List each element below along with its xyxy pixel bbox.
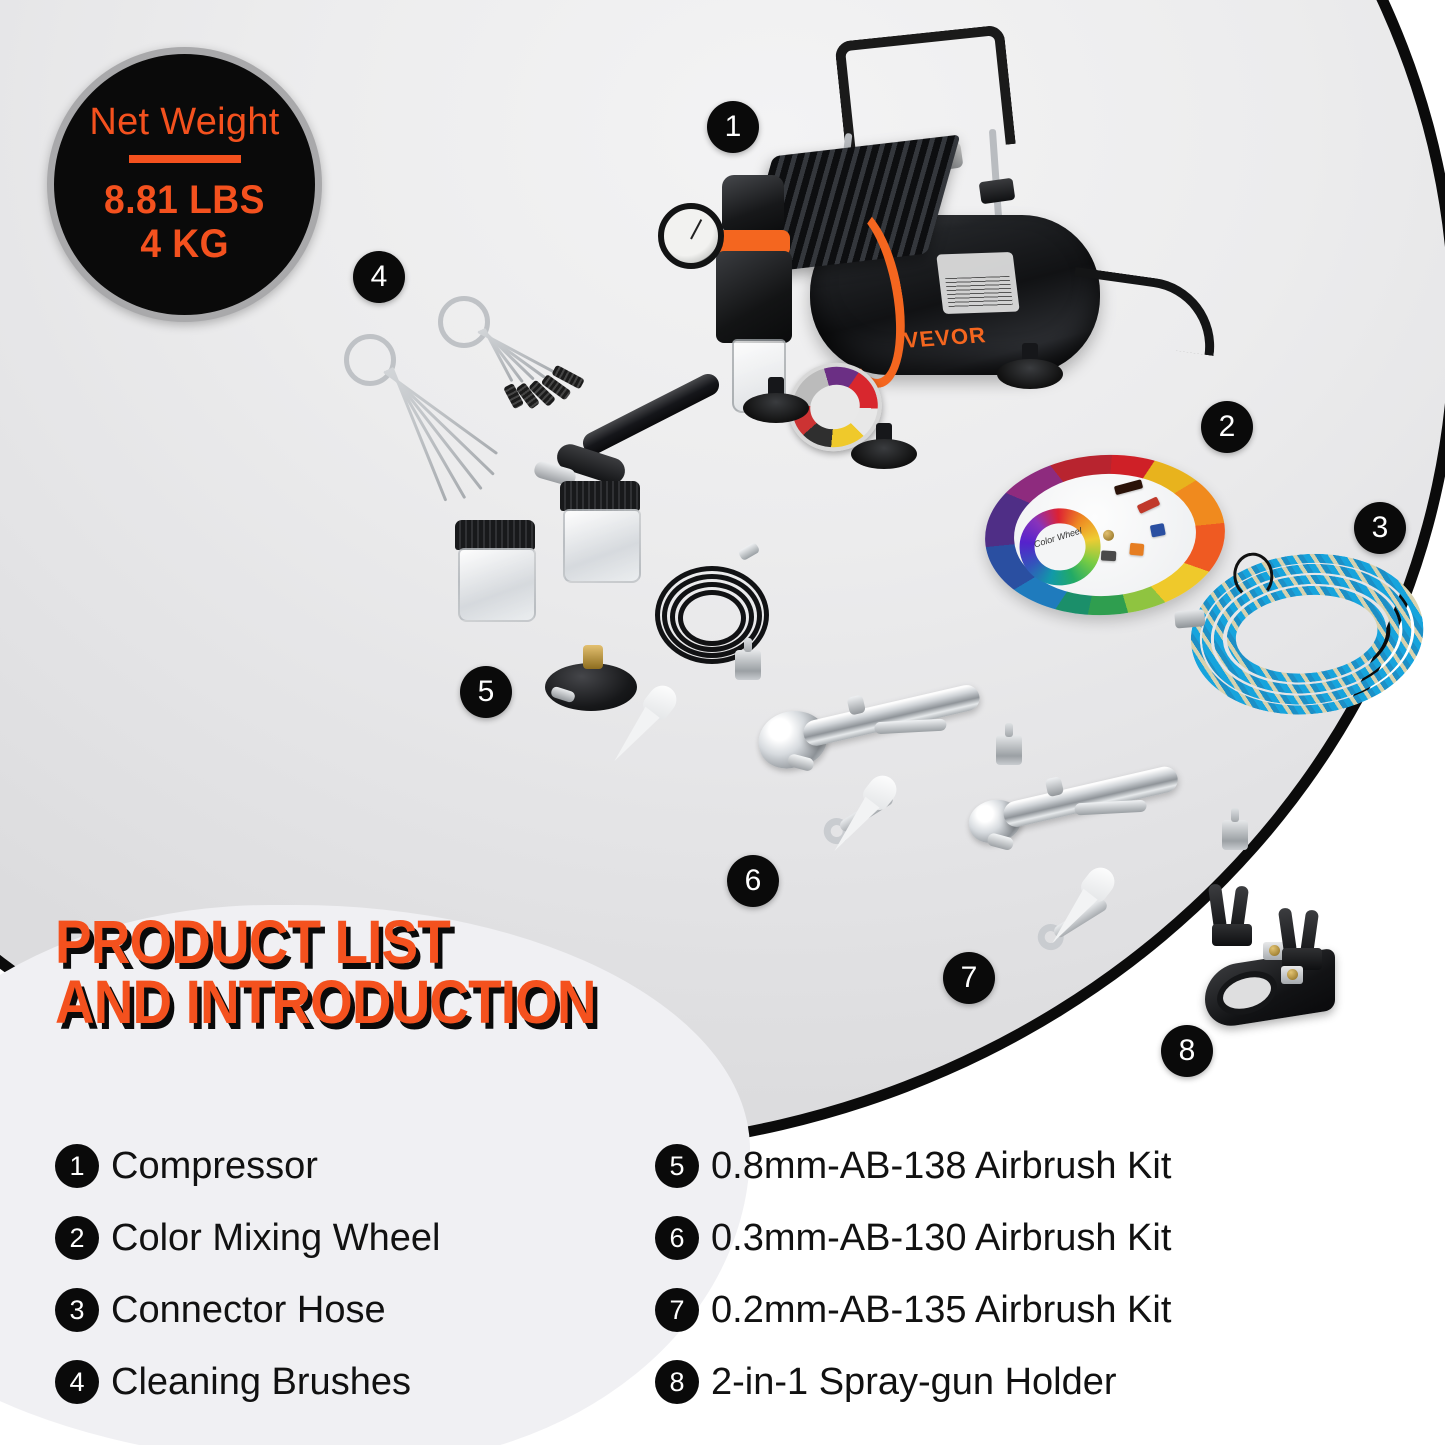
legend-label-6: 0.3mm-AB-130 Airbrush Kit [711, 1219, 1171, 1257]
ab138-jar-lid [560, 481, 640, 511]
net-weight-lbs: 8.81 LBS [104, 179, 265, 222]
photo-marker-8: 8 [1161, 1025, 1213, 1077]
legend-number-1: 1 [55, 1144, 99, 1188]
net-weight-title: Net Weight [89, 103, 279, 141]
compressor-spec-label [936, 252, 1020, 314]
power-switch [979, 178, 1016, 205]
legend-item-2: 2Color Mixing Wheel [55, 1202, 615, 1274]
page-title: PRODUCT LIST AND INTRODUCTION [55, 912, 656, 1033]
compressor-product: VEVOR [640, 25, 1110, 525]
photo-marker-5: 5 [460, 666, 512, 718]
hose-end-fitting [1174, 609, 1205, 629]
legend-number-7: 7 [655, 1288, 699, 1332]
brass-valve-icon [583, 645, 603, 669]
holder-clamp-right [1281, 908, 1325, 966]
adapter-nut-3 [1222, 820, 1248, 850]
ab138-glass-jar [563, 509, 641, 583]
legend-label-1: Compressor [111, 1147, 318, 1185]
legend-number-8: 8 [655, 1360, 699, 1404]
photo-marker-2: 2 [1201, 401, 1253, 453]
spare-lid-with-valve [545, 645, 640, 715]
legend-column-right: 50.8mm-AB-138 Airbrush Kit60.3mm-AB-130 … [655, 1130, 1395, 1418]
legend-number-5: 5 [655, 1144, 699, 1188]
net-weight-divider [129, 155, 241, 163]
legend-label-7: 0.2mm-AB-135 Airbrush Kit [711, 1291, 1171, 1329]
legend-item-5: 50.8mm-AB-138 Airbrush Kit [655, 1130, 1395, 1202]
legend-item-4: 4Cleaning Brushes [55, 1346, 615, 1418]
suction-foot-1 [743, 393, 809, 423]
legend-number-6: 6 [655, 1216, 699, 1260]
wheel-swatch-5 [1101, 550, 1117, 561]
legend-label-3: Connector Hose [111, 1291, 386, 1329]
photo-marker-6: 6 [727, 855, 779, 907]
legend-item-6: 60.3mm-AB-130 Airbrush Kit [655, 1202, 1395, 1274]
legend-number-2: 2 [55, 1216, 99, 1260]
connector-hose-product [1184, 546, 1411, 709]
suction-foot-2 [851, 439, 917, 469]
ab130-air-lever [874, 719, 947, 735]
legend-item-7: 70.2mm-AB-135 Airbrush Kit [655, 1274, 1395, 1346]
legend-label-2: Color Mixing Wheel [111, 1219, 440, 1257]
wheel-swatch-3 [1149, 523, 1165, 537]
adapter-nut-1 [735, 650, 761, 680]
legend-label-4: Cleaning Brushes [111, 1363, 411, 1401]
legend-number-3: 3 [55, 1288, 99, 1332]
net-weight-kg: 4 KG [140, 223, 229, 266]
legend-item-3: 3Connector Hose [55, 1274, 615, 1346]
ab130-barrel [801, 682, 982, 748]
legend-number-4: 4 [55, 1360, 99, 1404]
photo-marker-3: 3 [1354, 502, 1406, 554]
legend-label-8: 2-in-1 Spray-gun Holder [711, 1363, 1117, 1401]
coil-ring-4 [678, 590, 746, 646]
page-title-line1: PRODUCT LIST [55, 912, 596, 972]
holder-screw-right [1281, 966, 1303, 984]
page-title-line2: AND INTRODUCTION [55, 972, 596, 1032]
legend-item-8: 82-in-1 Spray-gun Holder [655, 1346, 1395, 1418]
legend-label-5: 0.8mm-AB-138 Airbrush Kit [711, 1147, 1171, 1185]
wheel-swatch-4 [1129, 542, 1144, 555]
regulator-body [716, 251, 792, 343]
clamp-block-left [1212, 924, 1252, 946]
ab135-barrel [1001, 764, 1180, 829]
legend-item-1: 1Compressor [55, 1130, 615, 1202]
suction-foot-3 [997, 359, 1063, 389]
brush-ring-needles [344, 334, 396, 386]
pressure-gauge-icon [658, 203, 724, 269]
photo-marker-7: 7 [943, 952, 995, 1004]
regulator-knob [722, 175, 784, 233]
photo-marker-4: 4 [353, 251, 405, 303]
brush-ring-bristles [438, 296, 490, 348]
legend-column-left: 1Compressor2Color Mixing Wheel3Connector… [55, 1130, 615, 1418]
holder-clamp-left [1211, 884, 1255, 942]
net-weight-badge: Net Weight 8.81 LBS 4 KG [47, 47, 322, 322]
photo-marker-1: 1 [707, 101, 759, 153]
spray-gun-holder-product [1185, 880, 1370, 1040]
ab135-air-lever [1074, 800, 1147, 816]
